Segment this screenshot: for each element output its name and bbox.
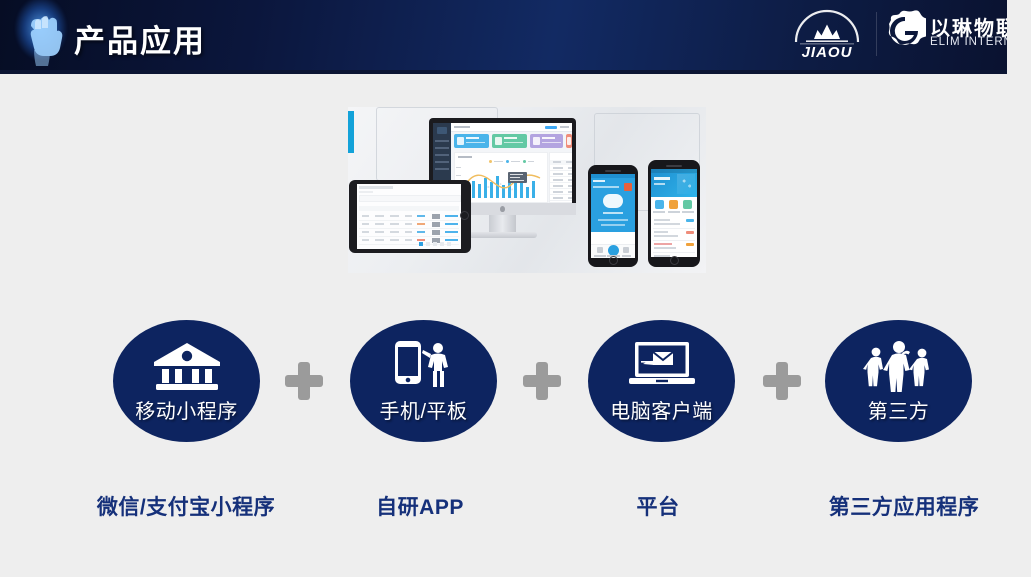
plus-icon <box>285 362 323 400</box>
logo-divider <box>876 12 877 56</box>
accent-bar <box>348 111 354 153</box>
channel-caption-platform: 平台 <box>538 491 778 521</box>
jiaou-logo: JIAOU <box>786 8 868 62</box>
channel-label: 手机/平板 <box>350 395 497 424</box>
phone-app-screen <box>591 174 635 258</box>
laptop-envelope-icon <box>588 340 735 397</box>
channel-caption-app: 自研APP <box>300 491 540 521</box>
channel-label: 移动小程序 <box>113 395 260 424</box>
plus-icon <box>523 362 561 400</box>
plus-icon <box>763 362 801 400</box>
elim-logo: 以琳物联 ELIM INTERNET <box>884 10 1007 60</box>
three-people-icon <box>825 340 972 397</box>
phone-list-device <box>648 160 700 267</box>
phone-list-screen <box>651 169 697 257</box>
multi-device-mockup <box>348 107 706 273</box>
tablet-screen <box>357 184 461 249</box>
page-title: 产品应用 <box>74 16 206 61</box>
channel-label: 电脑客户端 <box>588 395 735 424</box>
elim-name-en: ELIM INTERNET <box>930 36 1007 48</box>
channel-caption-third-party: 第三方应用程序 <box>784 491 1024 521</box>
hexagon-g-icon <box>884 10 926 52</box>
phone-app-device <box>588 165 638 267</box>
raised-fist-icon <box>10 0 72 70</box>
header-underline <box>0 70 1007 74</box>
channel-circle-app[interactable]: 手机/平板 <box>350 320 497 442</box>
channel-circle-desktop[interactable]: 电脑客户端 <box>588 320 735 442</box>
channel-circle-third-party[interactable]: 第三方 <box>825 320 972 442</box>
channel-caption-mini-program: 微信/支付宝小程序 <box>66 491 306 521</box>
channel-circle-mini-program[interactable]: 移动小程序 <box>113 320 260 442</box>
tablet-device <box>349 180 471 253</box>
mobile-person-icon <box>350 340 497 397</box>
channel-label: 第三方 <box>825 395 972 424</box>
bank-building-icon <box>113 340 260 397</box>
jiaou-wordmark: JIAOU <box>786 44 868 61</box>
page-header: 产品应用 JIAOU 以琳物联 ELIM INTERNET <box>0 0 1007 70</box>
